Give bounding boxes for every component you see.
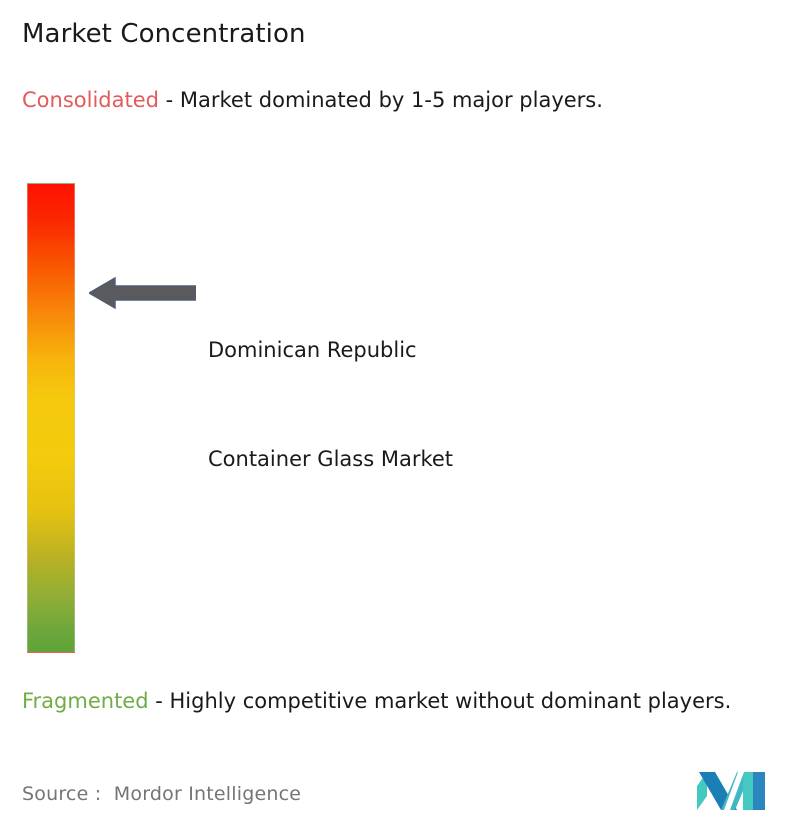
logo-shape-i-teal — [743, 772, 753, 810]
legend-consolidated-description: - Market dominated by 1-5 major players. — [159, 88, 603, 112]
market-callout-label: Dominican Republic Container Glass Marke… — [208, 260, 453, 513]
left-arrow-icon — [89, 276, 196, 310]
market-callout-line2: Container Glass Market — [208, 441, 453, 477]
mordor-intelligence-logo-icon — [697, 770, 765, 810]
page-title: Market Concentration — [22, 20, 306, 49]
concentration-gradient-scale — [27, 183, 75, 653]
source-attribution: Source : Mordor Intelligence — [22, 783, 301, 805]
legend-fragmented: Fragmented - Highly competitive market w… — [22, 686, 782, 717]
callout-arrow-icon — [89, 276, 196, 310]
left-arrow-shape — [89, 278, 196, 308]
legend-fragmented-keyword: Fragmented — [22, 689, 149, 713]
mordor-intelligence-logo — [697, 770, 765, 810]
legend-consolidated-keyword: Consolidated — [22, 88, 159, 112]
logo-shape-i-blue — [753, 772, 765, 810]
market-callout-line1: Dominican Republic — [208, 332, 453, 368]
legend-consolidated: Consolidated - Market dominated by 1-5 m… — [22, 85, 766, 116]
legend-fragmented-description: - Highly competitive market without domi… — [149, 689, 732, 713]
